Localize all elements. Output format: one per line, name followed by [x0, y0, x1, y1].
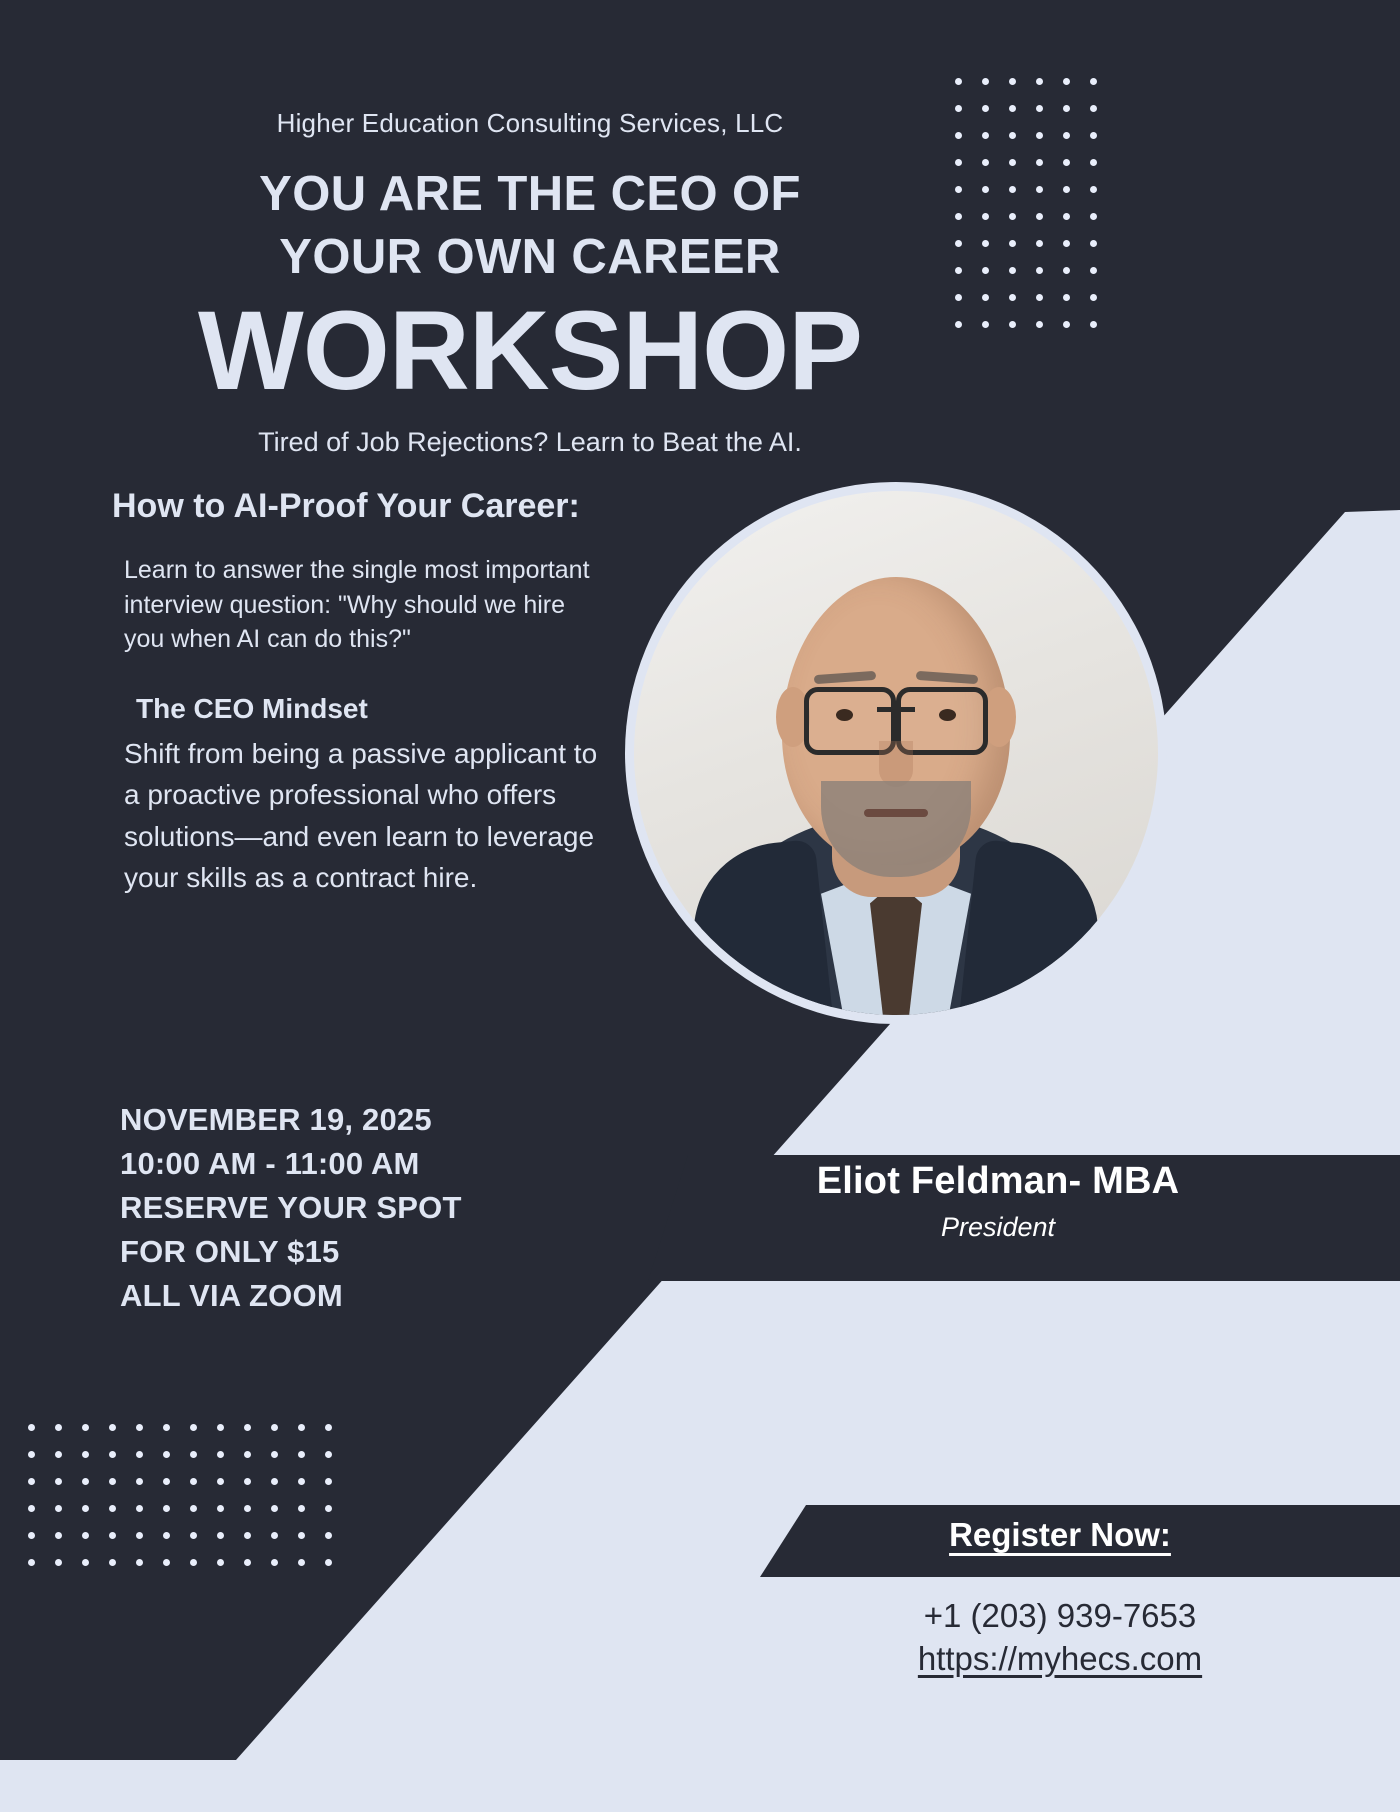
contact-phone[interactable]: +1 (203) 939-7653 — [760, 1595, 1360, 1638]
section-body-ai-proof: Learn to answer the single most importan… — [112, 553, 612, 657]
contact-block: +1 (203) 939-7653 https://myhecs.com — [760, 1595, 1360, 1681]
speaker-portrait-frame — [625, 482, 1167, 1024]
tagline: Tired of Job Rejections? Learn to Beat t… — [110, 427, 950, 458]
event-platform: ALL VIA ZOOM — [120, 1274, 550, 1318]
section-body-ceo-mindset: Shift from being a passive applicant to … — [112, 733, 612, 899]
poster-header: Higher Education Consulting Services, LL… — [110, 108, 950, 458]
flyer-poster: Higher Education Consulting Services, LL… — [0, 0, 1400, 1812]
section-heading-ceo-mindset: The CEO Mindset — [112, 693, 612, 725]
speaker-role: President — [648, 1212, 1348, 1243]
event-date: NOVEMBER 19, 2025 — [120, 1098, 550, 1142]
dot-grid-top-right-icon — [955, 78, 1097, 328]
speaker-photo — [634, 491, 1158, 1015]
event-time: 10:00 AM - 11:00 AM — [120, 1142, 550, 1186]
section-heading-ai-proof: How to AI-Proof Your Career: — [112, 482, 612, 531]
content-column: How to AI-Proof Your Career: Learn to an… — [112, 482, 612, 899]
dot-grid-bottom-left-icon — [28, 1424, 332, 1566]
title-workshop: WORKSHOP — [110, 294, 950, 408]
event-details: NOVEMBER 19, 2025 10:00 AM - 11:00 AM RE… — [120, 1098, 550, 1318]
speaker-name: Eliot Feldman- MBA — [648, 1160, 1348, 1203]
event-price: FOR ONLY $15 — [120, 1230, 550, 1274]
glasses-bridge-icon — [877, 707, 915, 712]
contact-website-link[interactable]: https://myhecs.com — [760, 1638, 1360, 1681]
event-reserve-text: RESERVE YOUR SPOT — [120, 1186, 550, 1230]
register-now-label[interactable]: Register Now: — [760, 1516, 1360, 1554]
title-line-1: YOU ARE THE CEO OF — [110, 163, 950, 226]
mouth-shape — [864, 809, 928, 817]
eye-right-shape — [939, 709, 956, 721]
organization-name: Higher Education Consulting Services, LL… — [110, 108, 950, 139]
eye-left-shape — [836, 709, 853, 721]
title-line-2: YOUR OWN CAREER — [110, 226, 950, 289]
